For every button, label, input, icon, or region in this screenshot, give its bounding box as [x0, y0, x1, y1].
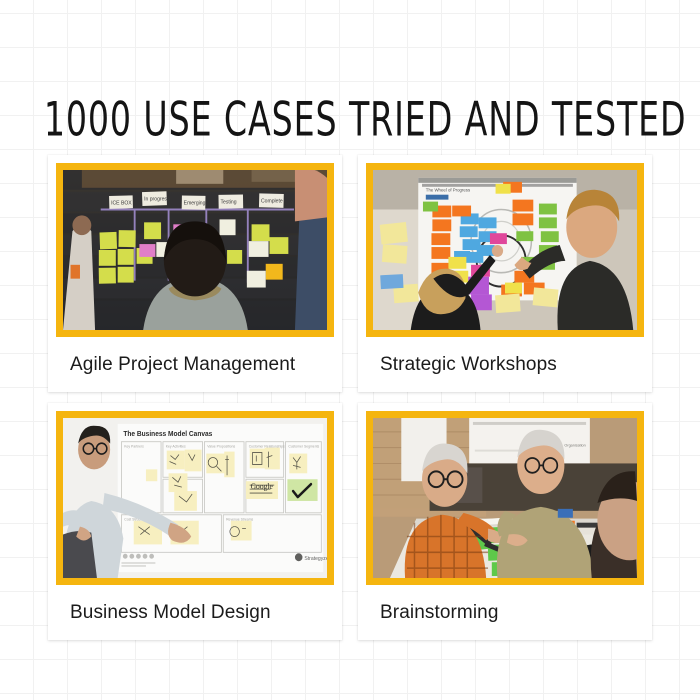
use-case-card-brainstorming[interactable]: Organisation: [358, 403, 652, 640]
photo-table-brainstorm: Organisation: [373, 418, 637, 578]
svg-text:The Wheel of Progress: The Wheel of Progress: [426, 188, 471, 193]
svg-text:Complete: Complete: [261, 199, 283, 205]
use-case-card-strategic-workshops[interactable]: The Wheel of Progress: [358, 155, 652, 392]
card-label: Agile Project Management: [48, 337, 342, 392]
svg-text:Customer Segments: Customer Segments: [288, 445, 319, 449]
page-root: 1000 USE CASES TRIED AND TESTED: [0, 0, 700, 700]
photo-whiteboard-workshop: The Wheel of Progress: [373, 170, 637, 330]
photo-business-model-canvas: The Business Model Canvas: [63, 418, 327, 578]
card-photo-frame: The Wheel of Progress: [366, 163, 644, 337]
svg-text:Value Propositions: Value Propositions: [207, 445, 235, 449]
svg-text:Testing: Testing: [220, 199, 236, 205]
card-label: Strategic Workshops: [358, 337, 652, 392]
svg-text:In progress: In progress: [144, 197, 170, 203]
use-case-card-business-model-design[interactable]: The Business Model Canvas: [48, 403, 342, 640]
card-photo-frame: The Business Model Canvas: [56, 411, 334, 585]
use-case-card-agile-project-management[interactable]: ICE BOX In progress Emerging Testing Com…: [48, 155, 342, 392]
svg-text:Key Activities: Key Activities: [166, 445, 186, 449]
use-case-card-grid: ICE BOX In progress Emerging Testing Com…: [48, 155, 652, 640]
svg-text:Strategyzer: Strategyzer: [304, 556, 327, 562]
photo-kanban-wall: ICE BOX In progress Emerging Testing Com…: [63, 170, 327, 330]
svg-text:Organisation: Organisation: [564, 444, 585, 448]
card-photo-frame: ICE BOX In progress Emerging Testing Com…: [56, 163, 334, 337]
card-photo-frame: Organisation: [366, 411, 644, 585]
card-label: Brainstorming: [358, 585, 652, 640]
page-title: 1000 USE CASES TRIED AND TESTED: [44, 94, 687, 146]
svg-text:Emerging: Emerging: [184, 200, 206, 206]
svg-text:The Business Model Canvas: The Business Model Canvas: [123, 431, 212, 438]
svg-text:Key Partners: Key Partners: [124, 445, 144, 449]
svg-text:Google: Google: [251, 482, 274, 491]
page-title-wrap: 1000 USE CASES TRIED AND TESTED: [0, 66, 700, 168]
card-label: Business Model Design: [48, 585, 342, 640]
svg-text:ICE BOX: ICE BOX: [111, 200, 132, 206]
